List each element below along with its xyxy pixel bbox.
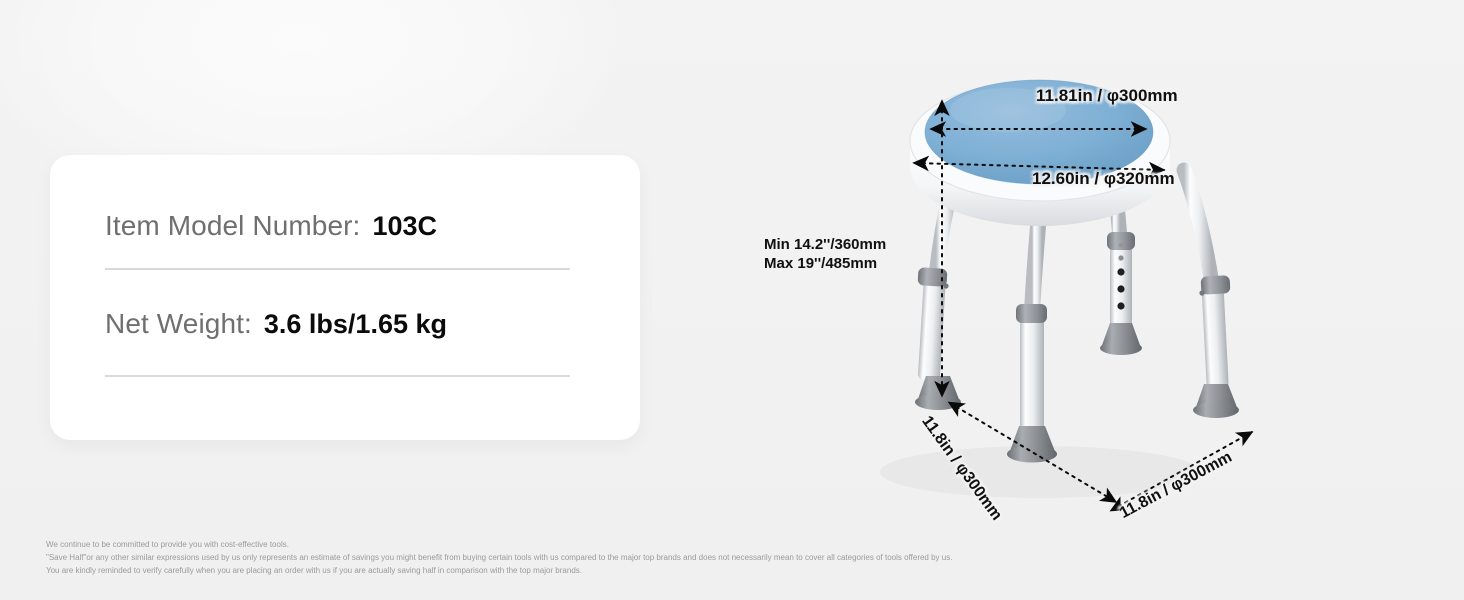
dimension-label-seat-pad: 11.81in / φ300mm [1036, 86, 1178, 106]
spec-value-weight: 3.6 lbs/1.65 kg [264, 309, 447, 340]
footer-line-3: You are kindly reminded to verify carefu… [46, 564, 1416, 577]
spec-divider-2 [105, 375, 570, 377]
spec-row-weight: Net Weight: 3.6 lbs/1.65 kg [105, 308, 447, 340]
spec-divider-1 [105, 268, 570, 270]
dimension-label-height-min: Min 14.2''/360mm [764, 235, 886, 254]
spec-label-weight: Net Weight: [105, 308, 252, 340]
spec-row-model: Item Model Number: 103C [105, 210, 437, 242]
footer-line-1: We continue to be committed to provide y… [46, 538, 1416, 551]
dimension-label-height-max: Max 19''/485mm [764, 254, 886, 273]
footer-disclaimer: We continue to be committed to provide y… [46, 538, 1416, 577]
product-spec-infographic: Item Model Number: 103C Net Weight: 3.6 … [0, 0, 1464, 600]
footer-line-2: "Save Half"or any other similar expressi… [46, 551, 1416, 564]
dimension-label-seat-outer: 12.60in / φ320mm [1032, 169, 1175, 189]
spec-label-model: Item Model Number: [105, 210, 360, 242]
stool-leg-right [1184, 170, 1239, 418]
spec-card: Item Model Number: 103C Net Weight: 3.6 … [50, 155, 640, 440]
dimension-label-height: Min 14.2''/360mm Max 19''/485mm [764, 235, 886, 273]
spec-value-model: 103C [372, 211, 437, 242]
